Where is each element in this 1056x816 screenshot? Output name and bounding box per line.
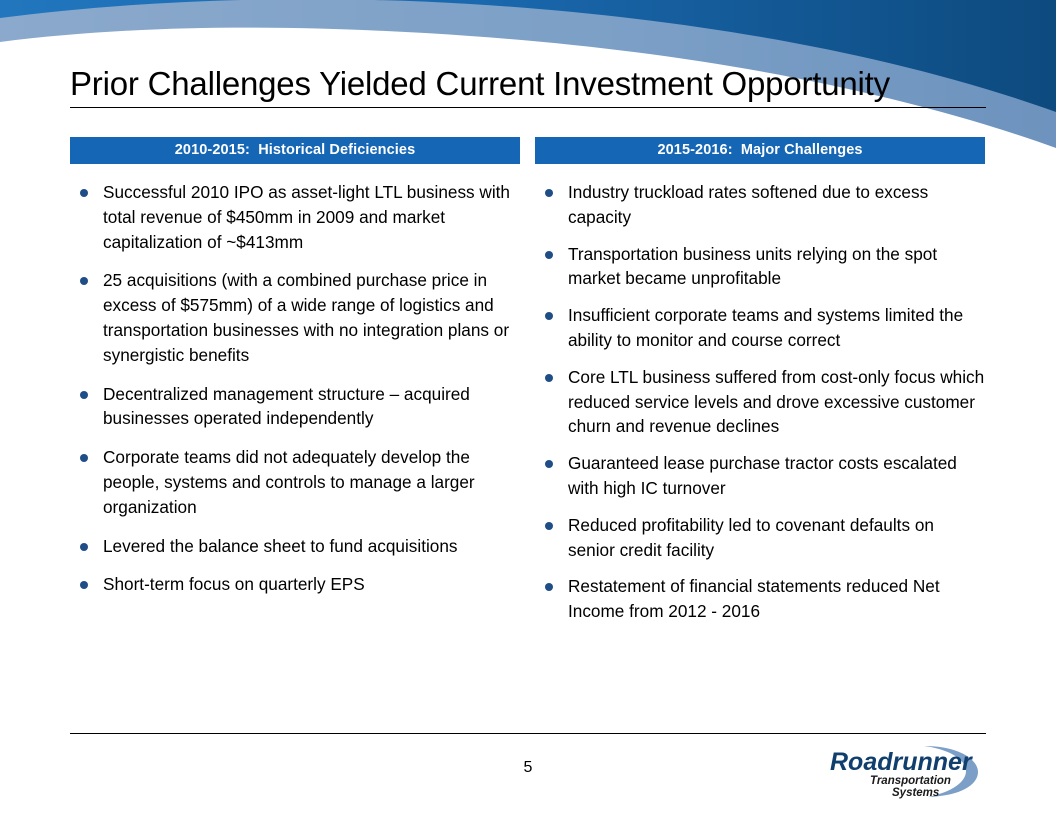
roadrunner-logo-graphic: Roadrunner Transportation Systems	[828, 740, 988, 802]
list-item: Short-term focus on quarterly EPS	[70, 572, 520, 597]
bullet-dot-icon	[80, 391, 88, 399]
list-item: Reduced profitability led to covenant de…	[535, 513, 985, 563]
presentation-slide: Prior Challenges Yielded Current Investm…	[0, 0, 1056, 816]
list-item-text: 25 acquisitions (with a combined purchas…	[103, 270, 509, 364]
bullet-dot-icon	[545, 312, 553, 320]
bullet-dot-icon	[545, 460, 553, 468]
footer-divider-rule	[70, 733, 986, 734]
list-item-text: Reduced profitability led to covenant de…	[568, 515, 934, 560]
bullet-dot-icon	[80, 189, 88, 197]
list-item-text: Decentralized management structure – acq…	[103, 384, 470, 429]
bullet-list-left: Successful 2010 IPO as asset-light LTL b…	[70, 180, 520, 597]
list-item-text: Restatement of financial statements redu…	[568, 576, 940, 621]
bullet-dot-icon	[80, 543, 88, 551]
list-item: Levered the balance sheet to fund acquis…	[70, 534, 520, 559]
list-item: Core LTL business suffered from cost-onl…	[535, 365, 985, 439]
bullet-dot-icon	[545, 522, 553, 530]
logo-secondary-line1: Transportation	[870, 775, 951, 787]
roadrunner-logo: Roadrunner Transportation Systems	[828, 740, 988, 802]
list-item-text: Industry truckload rates softened due to…	[568, 182, 928, 227]
logo-secondary-line2: Systems	[892, 787, 939, 799]
column-header-left: 2010-2015: Historical Deficiencies	[70, 137, 520, 164]
list-item-text: Core LTL business suffered from cost-onl…	[568, 367, 984, 437]
list-item-text: Corporate teams did not adequately devel…	[103, 447, 475, 517]
column-historical-deficiencies: 2010-2015: Historical Deficiencies Succe…	[70, 137, 520, 611]
column-major-challenges: 2015-2016: Major Challenges Industry tru…	[535, 137, 985, 636]
bullet-list-right: Industry truckload rates softened due to…	[535, 180, 985, 624]
list-item-text: Guaranteed lease purchase tractor costs …	[568, 453, 957, 498]
list-item: Decentralized management structure – acq…	[70, 382, 520, 432]
page-title: Prior Challenges Yielded Current Investm…	[70, 64, 986, 104]
list-item: Transportation business units relying on…	[535, 242, 985, 292]
title-block: Prior Challenges Yielded Current Investm…	[70, 64, 986, 108]
column-header-right: 2015-2016: Major Challenges	[535, 137, 985, 164]
list-item: Restatement of financial statements redu…	[535, 574, 985, 624]
bullet-dot-icon	[545, 251, 553, 259]
list-item-text: Levered the balance sheet to fund acquis…	[103, 536, 458, 556]
list-item-text: Insufficient corporate teams and systems…	[568, 305, 963, 350]
bullet-dot-icon	[80, 454, 88, 462]
bullet-dot-icon	[545, 374, 553, 382]
list-item: 25 acquisitions (with a combined purchas…	[70, 268, 520, 367]
list-item-text: Successful 2010 IPO as asset-light LTL b…	[103, 182, 510, 252]
list-item: Industry truckload rates softened due to…	[535, 180, 985, 230]
logo-primary-text: Roadrunner	[830, 748, 973, 776]
bullet-dot-icon	[80, 581, 88, 589]
title-underline-rule	[70, 107, 986, 108]
list-item-text: Short-term focus on quarterly EPS	[103, 574, 365, 594]
bullet-dot-icon	[545, 583, 553, 591]
list-item: Corporate teams did not adequately devel…	[70, 445, 520, 519]
list-item-text: Transportation business units relying on…	[568, 244, 937, 289]
bullet-dot-icon	[80, 277, 88, 285]
bullet-dot-icon	[545, 189, 553, 197]
list-item: Guaranteed lease purchase tractor costs …	[535, 451, 985, 501]
list-item: Successful 2010 IPO as asset-light LTL b…	[70, 180, 520, 254]
list-item: Insufficient corporate teams and systems…	[535, 303, 985, 353]
